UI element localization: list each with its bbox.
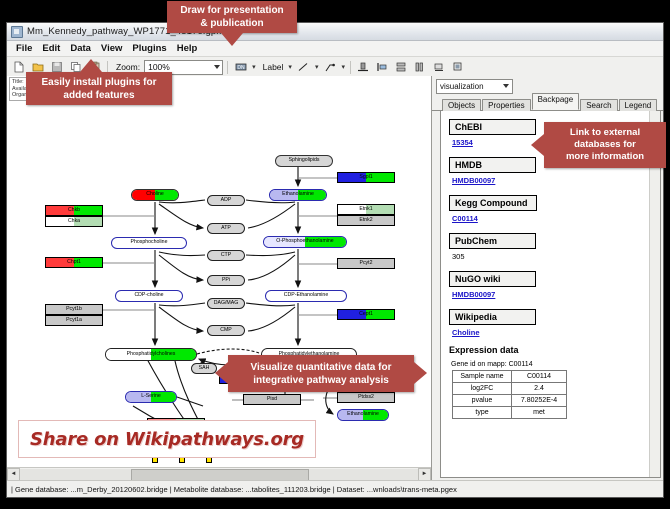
menu-item-file[interactable]: File (11, 43, 37, 54)
callout-text: Link to external databases for more info… (566, 127, 644, 163)
new-file-icon[interactable] (10, 59, 27, 76)
table-row: type met (453, 407, 567, 419)
window-titlebar: Mm_Kennedy_pathway_WP1771_45176.gpml (7, 23, 663, 41)
gene-node: Chka (45, 216, 103, 227)
menu-item-data[interactable]: Data (65, 43, 96, 54)
node-label: Etnk1 (359, 207, 372, 212)
metabolite-node: DAG/MAG (207, 298, 245, 309)
bring-to-front-icon[interactable] (431, 59, 448, 76)
expression-table: Sample name C00114 log2FC 2.4 pvalue 7.8… (452, 370, 567, 419)
screenshot-root: Mm_Kennedy_pathway_WP1771_45176.gpml Fil… (0, 0, 670, 509)
align-left-icon[interactable] (374, 59, 391, 76)
gene-node: Chpt1 (45, 257, 103, 268)
node-label: DAG/MAG (214, 301, 239, 306)
tab-properties[interactable]: Properties (482, 99, 530, 111)
metabolite-node: CMP (207, 325, 245, 336)
gene-node: Pcyt1b (45, 304, 103, 315)
chevron-down-icon[interactable]: ▾ (314, 63, 320, 71)
pubchem-value: 305 (452, 252, 660, 261)
menu-bar: File Edit Data View Plugins Help (7, 41, 663, 57)
side-panel-tabs: Objects Properties Backpage Search Legen… (432, 96, 664, 111)
table-cell: Sample name (453, 371, 512, 383)
canvas-horizontal-scrollbar[interactable]: ◄ ► (7, 467, 431, 480)
metabolite-node: Ethanolamine (269, 189, 327, 201)
tab-search[interactable]: Search (580, 99, 617, 111)
table-row: Sample name C00114 (453, 371, 567, 383)
metabolite-node: SAH (191, 363, 217, 374)
node-label: SAH (199, 366, 210, 371)
node-label: Ptdss2 (358, 395, 374, 400)
node-label: Sphingolipids (289, 158, 320, 163)
visualize-data-callout: Visualize quantitative data for integrat… (228, 355, 414, 392)
install-plugins-callout: Easily install plugins for added feature… (26, 72, 172, 105)
datanode-icon[interactable]: DN (232, 59, 249, 76)
wikipedia-link[interactable]: Choline (452, 328, 660, 337)
toolbar-separator (227, 61, 228, 74)
align-bottom-icon[interactable] (355, 59, 372, 76)
gene-node: Ptdss2 (337, 392, 395, 403)
metabolite-node-choline-top: Choline (131, 189, 179, 201)
node-label: Pcyt2 (360, 261, 373, 266)
table-row: log2FC 2.4 (453, 383, 567, 395)
stack-vertical-icon[interactable] (393, 59, 410, 76)
gene-node: Pcyt2 (337, 258, 395, 269)
menu-item-help[interactable]: Help (172, 43, 203, 54)
menu-item-edit[interactable]: Edit (37, 43, 65, 54)
draw-presentation-callout: Draw for presentation & publication (167, 1, 297, 33)
node-label: Ethanolamine (347, 412, 379, 417)
section-header-pubchem: PubChem (449, 233, 536, 249)
node-label: Sgpl1 (359, 175, 372, 180)
node-label: Pcyt1a (66, 318, 82, 323)
callout-text: Visualize quantitative data for integrat… (251, 361, 392, 387)
line-icon[interactable] (295, 59, 312, 76)
section-header-chebi: ChEBI (449, 119, 536, 135)
node-label: Chka (68, 219, 80, 224)
node-label: Choline (146, 192, 164, 197)
menu-item-view[interactable]: View (96, 43, 127, 54)
node-label: Pcyt1b (66, 307, 82, 312)
chevron-down-icon (214, 65, 220, 69)
metabolite-node: Phosphocholine (111, 237, 187, 249)
pathvisio-icon (11, 26, 23, 38)
node-label: Phosphatidylcholines (127, 352, 176, 357)
gene-id-on-mapp: Gene id on mapp: C00114 (451, 361, 660, 368)
menu-item-plugins[interactable]: Plugins (127, 43, 171, 54)
node-label: ADP (221, 198, 232, 203)
metabolite-node: ATP (207, 223, 245, 234)
metabolite-node: ADP (207, 195, 245, 206)
node-label: O-Phosphoethanolamine (276, 239, 333, 244)
toolbar-separator (350, 61, 351, 74)
chevron-down-icon[interactable]: ▾ (251, 63, 257, 71)
callout-pointer-right (414, 362, 427, 384)
node-label: Phosphocholine (131, 240, 168, 245)
table-cell: pvalue (453, 395, 512, 407)
hmdb-link[interactable]: HMDB00097 (452, 176, 660, 185)
metabolite-node: L-Serine (125, 391, 177, 403)
interaction-icon[interactable] (321, 59, 338, 76)
section-header-wikipedia: Wikipedia (449, 309, 536, 325)
node-label: Cept1 (359, 312, 373, 317)
callout-pointer-left (215, 362, 228, 384)
tab-backpage[interactable]: Backpage (532, 93, 580, 110)
label-tool-text[interactable]: Label (263, 62, 284, 72)
send-to-back-icon[interactable] (450, 59, 467, 76)
chevron-down-icon[interactable]: ▾ (287, 63, 293, 71)
metabolite-node: CDP-choline (115, 290, 183, 302)
external-links-callout: Link to external databases for more info… (544, 122, 666, 168)
table-cell: 7.80252E-4 (512, 395, 567, 407)
section-header-nugo: NuGO wiki (449, 271, 536, 287)
expression-data-title: Expression data (449, 345, 660, 355)
node-label: CTP (221, 253, 231, 258)
table-cell: 2.4 (512, 383, 567, 395)
table-cell: C00114 (512, 371, 567, 383)
nugo-link[interactable]: HMDB00097 (452, 290, 660, 299)
visualization-value: visualization (440, 82, 484, 91)
callout-pointer-up (80, 59, 102, 72)
chevron-down-icon (503, 84, 509, 88)
node-label: L-Serine (141, 394, 161, 399)
gene-node: Chkb (45, 205, 103, 216)
node-label: CDP-choline (134, 293, 163, 298)
callout-pointer-down (221, 33, 243, 46)
gene-node: Pcyt1a (45, 315, 103, 326)
gene-node: Etnk2 (337, 215, 395, 226)
section-header-hmdb: HMDB (449, 157, 536, 173)
kegg-link[interactable]: C00114 (452, 214, 660, 223)
node-label: ATP (221, 226, 231, 231)
metabolite-node: PPi (207, 275, 245, 286)
table-row: pvalue 7.80252E-4 (453, 395, 567, 407)
scroll-right-icon[interactable]: ► (418, 468, 431, 481)
node-label: Chkb (68, 208, 80, 213)
tab-objects[interactable]: Objects (442, 99, 481, 111)
status-text: | Gene database: ...m_Derby_20120602.bri… (11, 485, 457, 494)
gene-node: Pisd (243, 394, 301, 405)
banner-text: Share on Wikipathways.org (30, 429, 304, 450)
node-label: Etnk2 (359, 218, 372, 223)
section-header-kegg: Kegg Compound (449, 195, 537, 211)
gene-node: Cept1 (337, 309, 395, 320)
callout-pointer-left (531, 134, 544, 156)
scroll-left-icon[interactable]: ◄ (7, 468, 20, 481)
node-label: PPi (222, 278, 230, 283)
metabolite-node: CTP (207, 250, 245, 261)
status-bar: | Gene database: ...m_Derby_20120602.bri… (7, 480, 664, 497)
gene-node: Etnk1 (337, 204, 395, 215)
table-cell: type (453, 407, 512, 419)
callout-text: Easily install plugins for added feature… (41, 76, 156, 102)
zoom-label: Zoom: (116, 62, 140, 72)
metabolite-node: Phosphatidylcholines (105, 348, 197, 361)
node-label: CDP-Ethanolamine (284, 293, 328, 298)
node-label: Chpt1 (67, 260, 81, 265)
share-wikipathways-banner: Share on Wikipathways.org (18, 420, 316, 458)
chevron-down-icon[interactable]: ▾ (340, 63, 346, 71)
metabolite-node: CDP-Ethanolamine (265, 290, 347, 302)
gene-node: Sgpl1 (337, 172, 395, 183)
node-label: Ethanolamine (282, 192, 314, 197)
tab-legend[interactable]: Legend (619, 99, 658, 111)
metabolite-node: O-Phosphoethanolamine (263, 236, 347, 248)
visualization-combo[interactable]: visualization (436, 79, 513, 94)
table-cell: log2FC (453, 383, 512, 395)
common-width-icon[interactable] (412, 59, 429, 76)
svg-text:DN: DN (237, 65, 245, 71)
zoom-value: 100% (148, 62, 170, 72)
callout-text: Draw for presentation & publication (180, 4, 283, 30)
table-cell: met (512, 407, 567, 419)
metabolite-node: Sphingolipids (275, 155, 333, 167)
metabolite-node: Ethanolamine (337, 409, 389, 421)
node-label: CMP (220, 328, 232, 333)
node-label: Pisd (267, 397, 277, 402)
scrollbar-track[interactable] (20, 469, 418, 480)
